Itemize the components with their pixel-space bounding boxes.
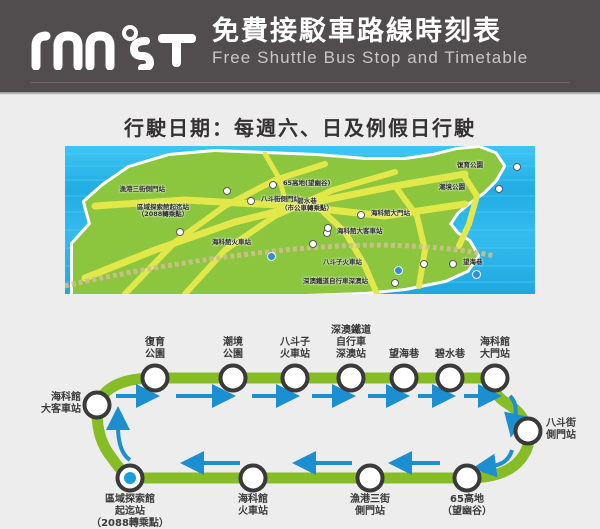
route-terminus-dot xyxy=(124,472,136,484)
map-stop-dot xyxy=(513,163,521,171)
route-stop-marker[interactable] xyxy=(143,366,168,391)
stop-circles xyxy=(85,366,541,491)
route-stop-marker[interactable] xyxy=(85,393,110,418)
route-stop-marker[interactable] xyxy=(438,366,463,391)
map-stop-dot xyxy=(449,260,457,268)
route-stop-marker[interactable] xyxy=(221,366,246,391)
map-stop-dot xyxy=(223,187,231,195)
route-map: 漁港三街側門站區域探索館起迄站（2088轉乘點）65高地(望幽谷)八斗街側門站海… xyxy=(65,146,535,294)
map-stop-dot xyxy=(324,224,332,232)
route-stop-marker[interactable] xyxy=(392,366,417,391)
route-stop-label: 海科館火車站 xyxy=(188,494,318,518)
header-divider xyxy=(30,82,570,83)
route-stop-label: 八斗街側門站 xyxy=(546,418,600,442)
map-stop-dot xyxy=(247,197,255,205)
route-stop-marker[interactable] xyxy=(241,466,266,491)
page-title-zh: 免費接駁車路線時刻表 xyxy=(212,18,528,46)
header-brand: 免費接駁車路線時刻表 Free Shuttle Bus Stop and Tim… xyxy=(30,18,528,70)
route-stop-label: 65高地（望幽谷） xyxy=(402,494,532,518)
route-stop-marker[interactable] xyxy=(483,366,508,391)
map-train-station-icon xyxy=(472,270,481,279)
route-stop-label: 海科館大客車站 xyxy=(3,392,81,416)
route-stop-marker[interactable] xyxy=(358,466,383,491)
header-shadow xyxy=(0,92,600,95)
route-stop-label: 區域探索館起迄站（2088轉乘點） xyxy=(65,494,195,529)
map-stop-dot xyxy=(309,240,317,248)
route-diagram: 復育公園潮境公園八斗子火車站深澳鐵道自行車深澳站望海巷碧水巷海科館大門站區域探索… xyxy=(0,300,600,523)
map-stop-dot xyxy=(391,279,399,287)
route-stop-marker[interactable] xyxy=(455,466,480,491)
map-train-station-icon xyxy=(267,252,276,261)
map-stop-dot xyxy=(495,185,503,193)
route-stop-marker[interactable] xyxy=(283,366,308,391)
header-titles: 免費接駁車路線時刻表 Free Shuttle Bus Stop and Tim… xyxy=(212,18,528,68)
map-stop-dot xyxy=(269,181,277,189)
page-header: 免費接駁車路線時刻表 Free Shuttle Bus Stop and Tim… xyxy=(0,0,600,92)
map-stop-dot xyxy=(420,260,428,268)
route-stop-marker[interactable] xyxy=(516,419,541,444)
nmmst-logo xyxy=(30,18,198,70)
map-stop-dot xyxy=(357,211,365,219)
operating-date-bar: 行駛日期：每週六、日及例假日行駛 xyxy=(0,112,600,141)
operating-date-text: 行駛日期：每週六、日及例假日行駛 xyxy=(0,112,600,141)
page-title-en: Free Shuttle Bus Stop and Timetable xyxy=(212,47,528,68)
map-stop-dot xyxy=(176,228,184,236)
map-train-station-icon xyxy=(394,266,403,275)
direction-arrow-left-up xyxy=(118,426,130,460)
route-stop-label: 海科館大門站 xyxy=(440,337,550,361)
route-stop-marker[interactable] xyxy=(339,366,364,391)
